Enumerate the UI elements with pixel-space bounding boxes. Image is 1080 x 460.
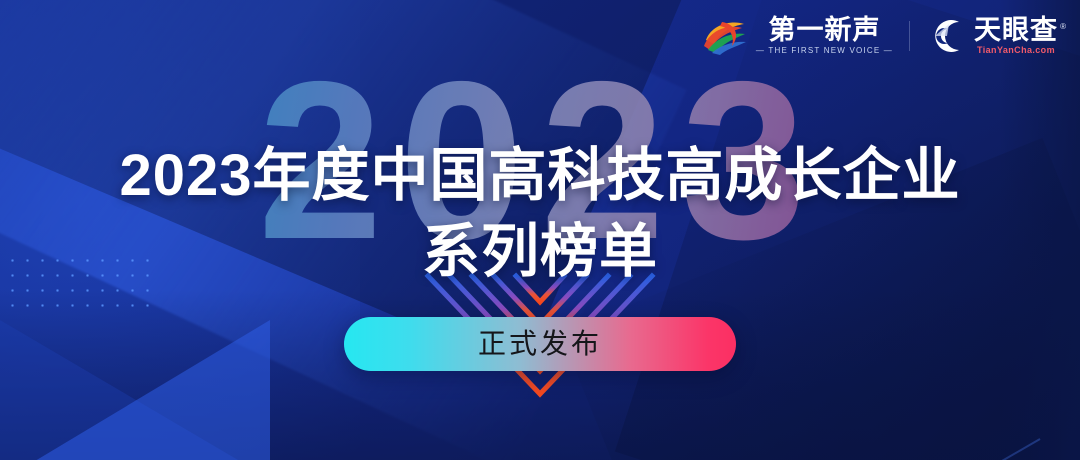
partner-logo-name-text: 天眼查: [974, 15, 1058, 45]
primary-logo[interactable]: 第一新声 — THE FIRST NEW VOICE —: [702, 16, 893, 56]
partner-logo[interactable]: 天眼查 ® TianYanCha.com: [926, 16, 1058, 56]
aperture-logo-icon: [926, 17, 966, 55]
logo-divider: [909, 21, 910, 51]
primary-logo-tagline: — THE FIRST NEW VOICE —: [756, 45, 893, 56]
page-title-line-2: 系列榜单: [0, 214, 1080, 290]
background-triangle-bottom-left-b: [0, 320, 340, 460]
trademark-symbol: ®: [1060, 13, 1067, 41]
primary-logo-text: 第一新声 — THE FIRST NEW VOICE —: [756, 16, 893, 56]
page-title: 2023年度中国高科技高成长企业 系列榜单: [0, 138, 1080, 290]
partner-logo-text: 天眼查 ® TianYanCha.com: [974, 16, 1058, 56]
partner-logo-name: 天眼查 ®: [974, 16, 1058, 44]
logo-lockup: 第一新声 — THE FIRST NEW VOICE — 天眼查 ® TianY…: [702, 16, 1058, 56]
page-title-line-1: 2023年度中国高科技高成长企业: [0, 138, 1080, 214]
background-triangle-bottom-left: [0, 320, 270, 460]
primary-logo-name: 第一新声: [768, 16, 880, 45]
promo-banner: 2023 2023年度中国高科技高成长企业 系列榜单 正式发布: [0, 0, 1080, 460]
partner-logo-domain: TianYanCha.com: [977, 44, 1055, 56]
background-streak-right: [676, 438, 1041, 460]
release-status-label: 正式发布: [478, 330, 602, 358]
release-status-badge[interactable]: 正式发布: [344, 317, 736, 371]
swirl-logo-icon: [702, 16, 748, 56]
